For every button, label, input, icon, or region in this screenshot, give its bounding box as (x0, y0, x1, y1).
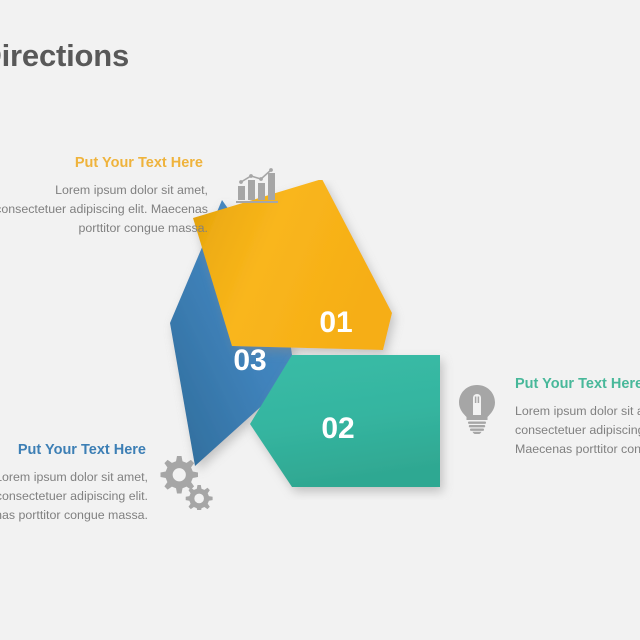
slide-canvas: e Directions (0, 0, 640, 640)
segment-number-01: 01 (319, 306, 352, 339)
step-02-heading: Put Your Text Here (515, 375, 640, 393)
step-03-body: Lorem ipsum dolor sit amet, consectetuer… (0, 468, 148, 525)
step-03-heading: Put Your Text Here (0, 441, 148, 459)
step-03-text-block: Put Your Text Here Lorem ipsum dolor sit… (0, 441, 148, 525)
gears-icon (155, 456, 213, 515)
page-title: e Directions (0, 38, 129, 74)
step-02-text-block: Put Your Text Here Lorem ipsum dolor sit… (515, 375, 640, 459)
bar-chart-icon (236, 168, 280, 209)
segment-number-02: 02 (321, 412, 354, 445)
lightbulb-icon (457, 384, 497, 439)
step-01-text-block: Put Your Text Here Lorem ipsum dolor sit… (0, 154, 208, 238)
segment-number-03: 03 (233, 344, 266, 377)
step-01-heading: Put Your Text Here (0, 154, 208, 172)
step-02-body: Lorem ipsum dolor sit amet, consectetuer… (515, 402, 640, 459)
step-01-body: Lorem ipsum dolor sit amet, consectetuer… (0, 181, 208, 238)
